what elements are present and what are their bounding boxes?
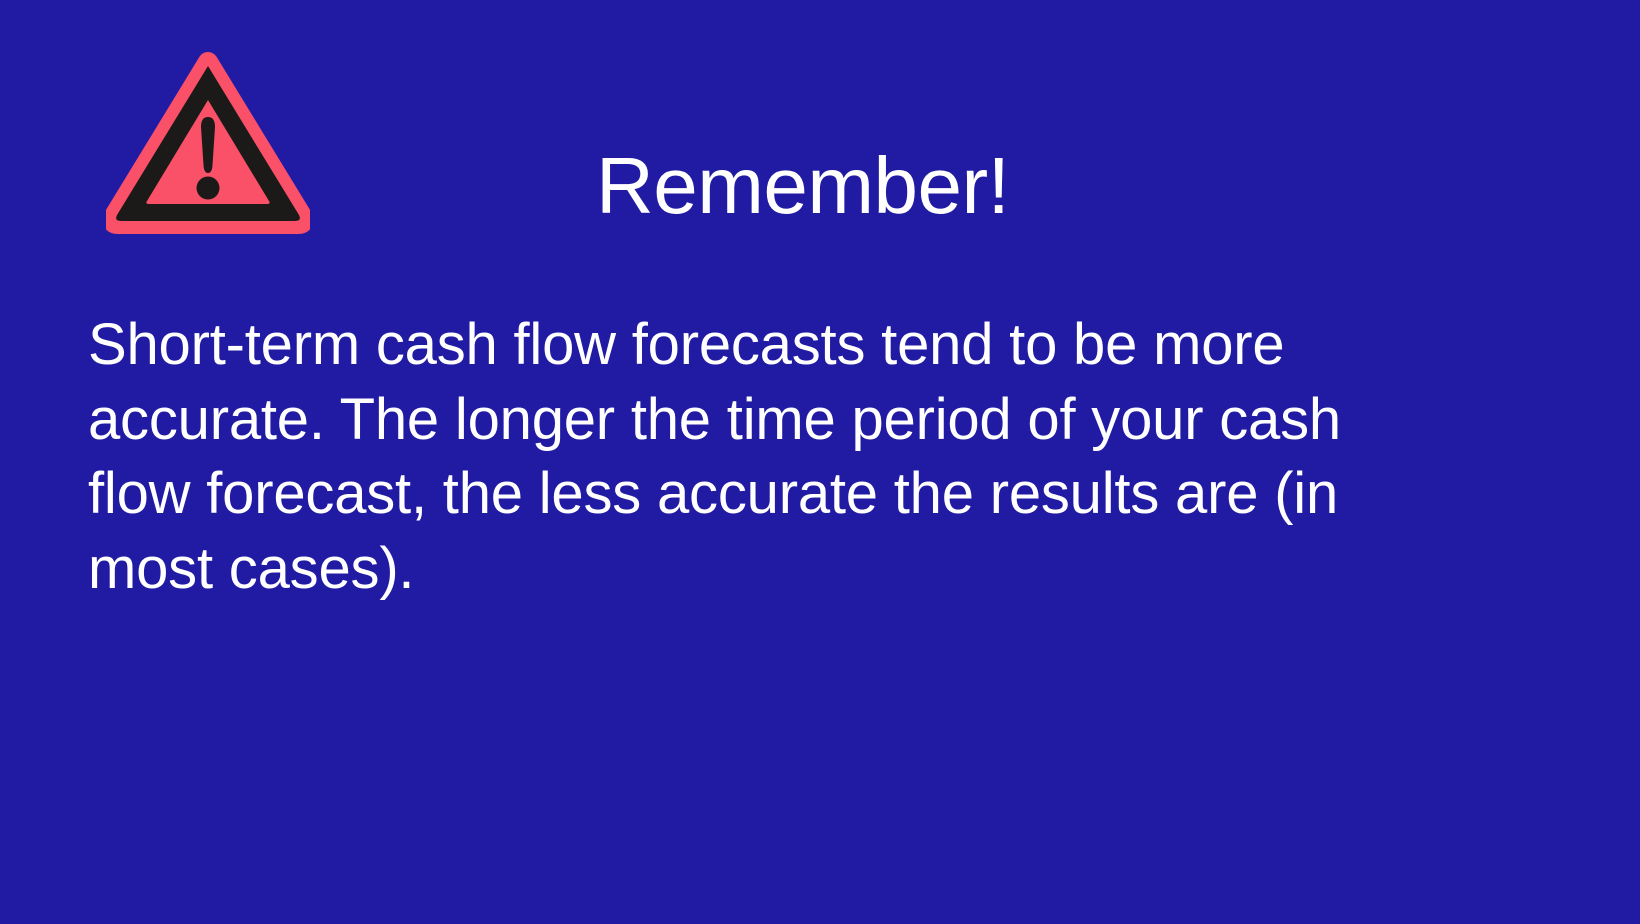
slide-canvas: Remember! Short-term cash flow forecasts… bbox=[0, 0, 1640, 924]
body-paragraph: Short-term cash flow forecasts tend to b… bbox=[88, 308, 1434, 606]
warning-triangle-icon bbox=[106, 52, 310, 234]
exclamation-dot-icon bbox=[197, 177, 220, 200]
page-title: Remember! bbox=[596, 138, 1456, 234]
